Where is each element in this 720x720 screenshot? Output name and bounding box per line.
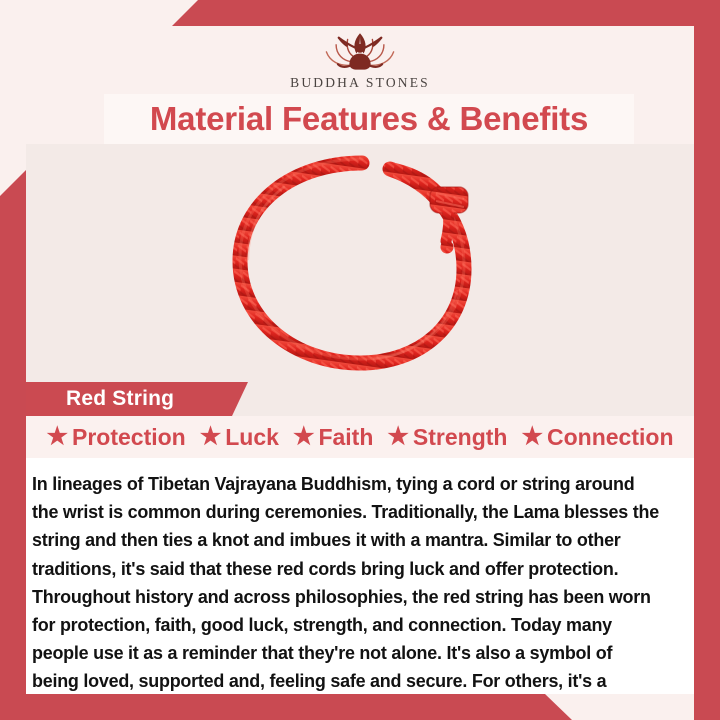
feature-item-faith: ★ Faith	[286, 424, 380, 451]
feature-label: Faith	[318, 424, 373, 451]
star-icon: ★	[521, 425, 543, 449]
star-icon: ★	[46, 425, 68, 449]
brand-name: BUDDHA STONES	[290, 75, 430, 91]
red-string-bracelet-image	[224, 149, 496, 377]
feature-label: Connection	[547, 424, 674, 451]
frame-band-right	[694, 0, 720, 720]
description-text: In lineages of Tibetan Vajrayana Buddhis…	[32, 470, 661, 720]
page-title: Material Features & Benefits	[150, 100, 588, 138]
star-icon: ★	[293, 425, 315, 449]
ribbon-row: Red String	[26, 382, 694, 416]
product-name-label: Red String	[26, 387, 174, 411]
star-icon: ★	[200, 425, 222, 449]
frame-band-left	[0, 0, 26, 720]
feature-item-protection: ★ Protection	[39, 424, 192, 451]
feature-item-strength: ★ Strength	[380, 424, 514, 451]
poster: BUDDHA STONES Material Features & Benefi…	[0, 0, 720, 720]
feature-item-connection: ★ Connection	[514, 424, 680, 451]
feature-label: Luck	[225, 424, 279, 451]
star-icon: ★	[387, 425, 409, 449]
product-name-ribbon: Red String	[26, 382, 248, 416]
lotus-meditation-icon	[306, 28, 414, 74]
feature-label: Strength	[413, 424, 508, 451]
frame-band-top	[0, 0, 720, 26]
feature-label: Protection	[72, 424, 186, 451]
feature-list: ★ Protection ★ Luck ★ Faith ★ Strength ★…	[26, 416, 694, 458]
product-image-stage	[26, 144, 694, 382]
title-band: Material Features & Benefits	[104, 94, 634, 144]
description-block: In lineages of Tibetan Vajrayana Buddhis…	[26, 458, 694, 694]
brand-logo: BUDDHA STONES	[26, 26, 694, 94]
poster-inner: BUDDHA STONES Material Features & Benefi…	[26, 26, 694, 694]
feature-item-luck: ★ Luck	[193, 424, 286, 451]
